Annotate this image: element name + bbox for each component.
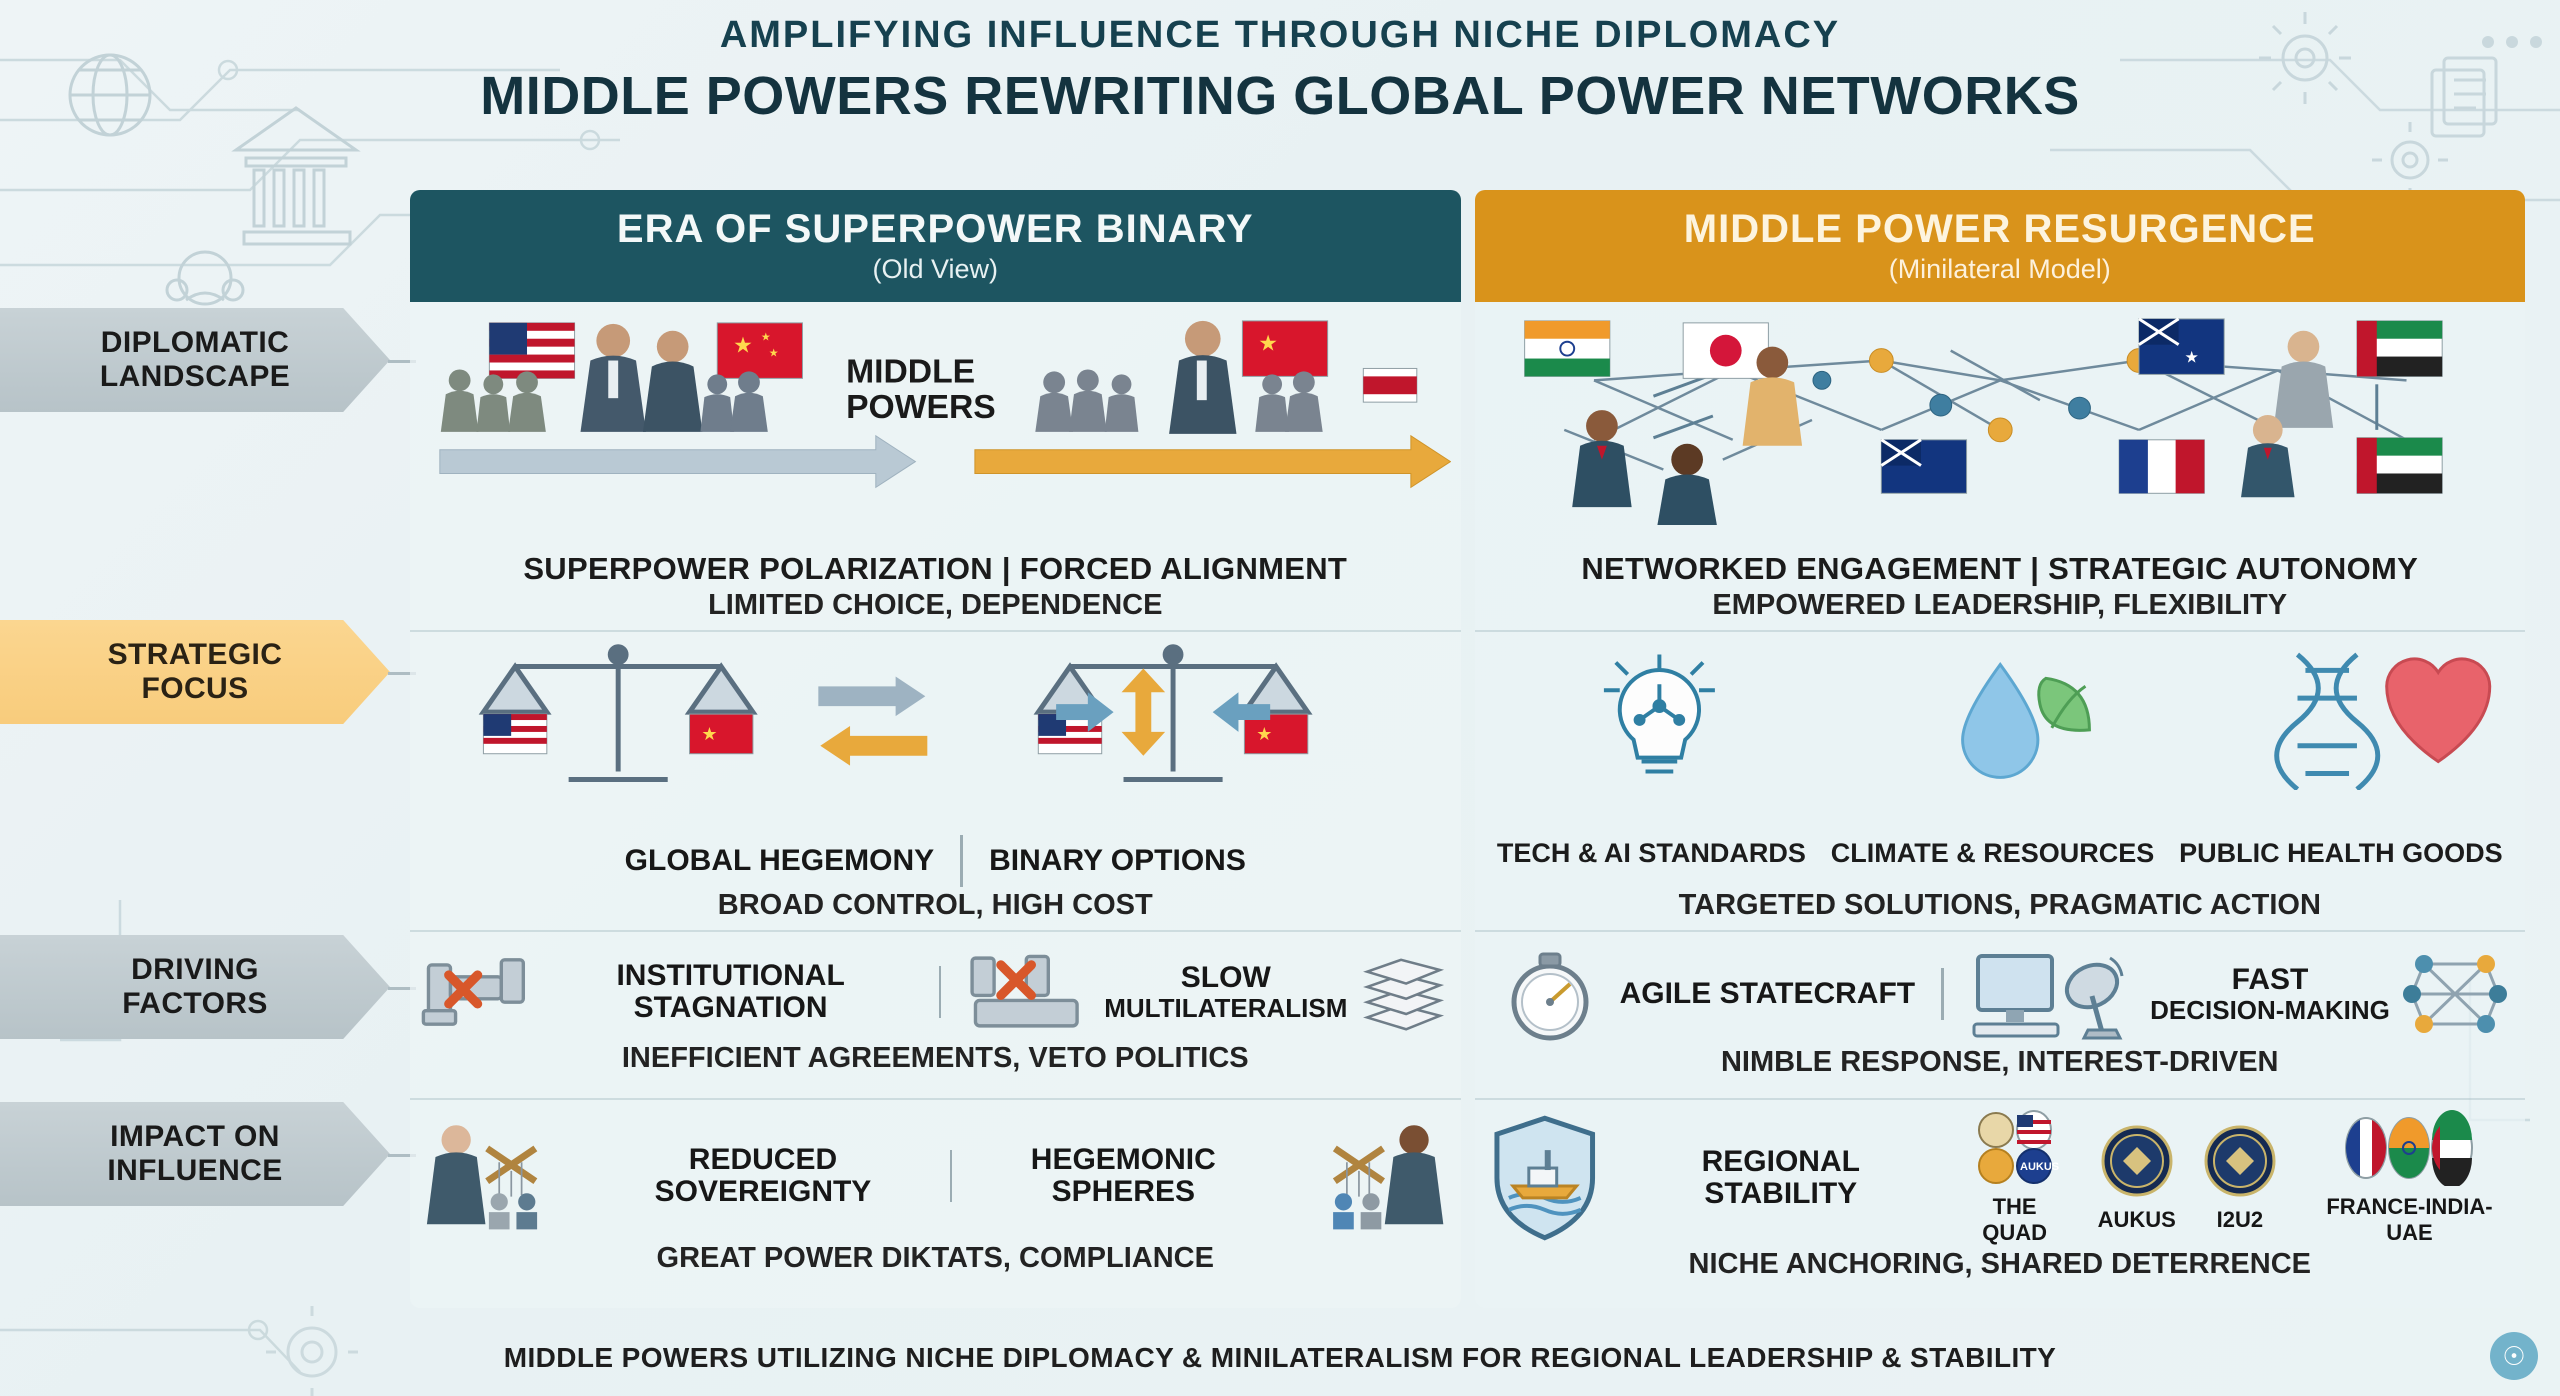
cell-right-impact-on-influence: REGIONAL STABILITY	[1475, 1100, 2526, 1308]
pact-emblems: AUKUS THE QUAD AUKUS	[1958, 1110, 2515, 1246]
row-label-impact-on-influence[interactable]: IMPACT ON INFLUENCE	[0, 1102, 390, 1206]
flag-usa-pan	[483, 714, 546, 754]
badge-icon: ☉	[2490, 1332, 2538, 1380]
icon-satellite-dish	[2060, 957, 2124, 1038]
caption-sub: INEFFICIENT AGREEMENTS, VETO POLITICS	[622, 1042, 1249, 1075]
pillar-label-climate: CLIMATE & RESOURCES	[1831, 839, 2155, 867]
svg-text:★: ★	[1258, 331, 1278, 356]
illustration-scales-hegemony: ★	[420, 640, 1451, 835]
icon-puppeteer-left	[420, 1112, 592, 1240]
icon-leaf	[2038, 678, 2089, 730]
pact-aukus[interactable]: AUKUS	[2098, 1123, 2176, 1233]
figure-superpower-leader-left	[581, 324, 646, 432]
label-multilateralism: MULTILATERALISM	[1104, 994, 1347, 1022]
row-label-diplomatic-landscape[interactable]: DIPLOMATIC LANDSCAPE	[0, 308, 390, 412]
svg-text:★: ★	[761, 332, 771, 344]
arrow-polarization-left	[440, 436, 916, 488]
pact-label: AUKUS	[2098, 1207, 2176, 1233]
svg-text:★: ★	[769, 348, 779, 360]
icon-monitor	[1974, 956, 2058, 1036]
row-label-line1: DIPLOMATIC	[101, 326, 289, 359]
label-reduced-sovereignty: REDUCED SOVEREIGNTY	[602, 1144, 924, 1209]
icon-broken-pipe-1	[420, 944, 539, 1040]
svg-text:★: ★	[733, 333, 753, 358]
panel-old-view: ★ ★ ★	[410, 302, 1461, 1308]
page-header: AMPLIFYING INFLUENCE THROUGH NICHE DIPLO…	[0, 14, 2560, 127]
row-driving-factors-right: AGILE STATECRAFT	[1485, 944, 2516, 1044]
icon-puppeteer-right	[1278, 1112, 1450, 1240]
pact-i2u2[interactable]: I2U2	[2202, 1123, 2278, 1233]
pact-label: I2U2	[2202, 1207, 2278, 1233]
svg-text:★: ★	[1256, 724, 1272, 744]
label-agile-statecraft: AGILE STATECRAFT	[1620, 978, 1916, 1010]
icon-computer-satellite	[1970, 944, 2140, 1044]
pact-label: THE QUAD	[1958, 1194, 2072, 1246]
row-label-driving-factors[interactable]: DRIVING FACTORS	[0, 935, 390, 1039]
gear-icon	[2372, 122, 2448, 198]
row-impact-left: REDUCED SOVEREIGNTY HEGEMONIC SPHERES	[420, 1112, 1451, 1240]
flag-france-emblem	[2346, 1118, 2386, 1178]
flag-uae-mid	[2356, 438, 2441, 493]
vertical-divider	[1941, 968, 1944, 1020]
column-title: MIDDLE POWER RESURGENCE	[1684, 207, 2316, 252]
icon-lightbulb-ai	[1603, 655, 1714, 772]
cell-right-strategic-focus: TECH & AI STANDARDS CLIMATE & RESOURCES …	[1475, 632, 2526, 932]
cell-right-driving-factors: AGILE STATECRAFT	[1475, 932, 2526, 1100]
figure-superpower-leader-right2	[1169, 321, 1236, 434]
arrows-binary-exchange	[818, 676, 927, 765]
caption-sub: EMPOWERED LEADERSHIP, FLEXIBILITY	[1712, 589, 2287, 622]
row-driving-factors-left: INSTITUTIONAL STAGNATION SLOW MULTILA	[420, 944, 1451, 1040]
column-header-old-view[interactable]: ERA OF SUPERPOWER BINARY (Old View)	[410, 190, 1461, 302]
icon-heart-health	[2386, 659, 2489, 762]
icon-network-graph	[2400, 944, 2510, 1044]
cell-left-driving-factors: INSTITUTIONAL STAGNATION SLOW MULTILA	[410, 932, 1461, 1100]
caption-sub: NICHE ANCHORING, SHARED DETERRENCE	[1689, 1248, 2311, 1281]
pillar-label-tech-ai: TECH & AI STANDARDS	[1497, 839, 1806, 867]
comparison-board: ERA OF SUPERPOWER BINARY (Old View) MIDD…	[410, 190, 2525, 1310]
caption-main: NETWORKED ENGAGEMENT | STRATEGIC AUTONOM…	[1581, 551, 2418, 587]
figures-small-states-mid	[700, 371, 767, 431]
network-nodes-blue	[1812, 371, 2089, 419]
label-middle-powers-line2: POWERS	[846, 389, 996, 426]
caption-sub: BROAD CONTROL, HIGH COST	[718, 889, 1153, 922]
label-fast: FAST	[2150, 964, 2390, 996]
vertical-divider	[950, 1150, 953, 1202]
cell-left-strategic-focus: ★	[410, 632, 1461, 932]
row-label-column: DIPLOMATIC LANDSCAPE STRATEGIC FOCUS DRI…	[0, 190, 415, 1310]
flag-north-korea	[1363, 368, 1417, 402]
row-label-line2: FOCUS	[142, 672, 249, 705]
figures-puppets	[489, 1193, 537, 1229]
row-label-line2: FACTORS	[122, 987, 268, 1020]
icon-broken-pipe-2	[967, 944, 1094, 1040]
cell-left-impact-on-influence: REDUCED SOVEREIGNTY HEGEMONIC SPHERES	[410, 1100, 1461, 1308]
column-subtitle: (Minilateral Model)	[1889, 254, 2111, 285]
row-label-line1: IMPACT ON	[110, 1120, 280, 1153]
figure-superpower-leader-right	[643, 331, 702, 432]
svg-text:★: ★	[2184, 350, 2198, 367]
label-slow-multilateralism: SLOW MULTILATERALISM	[1104, 962, 1347, 1022]
flag-china-right: ★	[1242, 321, 1327, 376]
vertical-divider	[960, 835, 963, 887]
flag-france	[2119, 440, 2204, 494]
flag-australia-top: ★	[2138, 319, 2223, 374]
label-institutional-stagnation: INSTITUTIONAL STAGNATION	[549, 960, 913, 1025]
figure-puppeteer	[1385, 1125, 1444, 1224]
pact-the-quad[interactable]: AUKUS THE QUAD	[1958, 1110, 2072, 1246]
icon-dna-helix	[2276, 655, 2377, 790]
flag-uae-top	[2356, 321, 2441, 376]
figures-small-states-left	[441, 369, 546, 431]
illustration-networked-engagement: ★	[1485, 310, 2516, 551]
page-title: MIDDLE POWERS REWRITING GLOBAL POWER NET…	[0, 65, 2560, 127]
flag-india-emblem	[2389, 1118, 2429, 1178]
icon-paper-stack	[1357, 944, 1450, 1040]
flag-australia-mid	[1881, 440, 1966, 494]
label-global-hegemony: GLOBAL HEGEMONY	[625, 845, 934, 877]
row-label-line1: DRIVING	[131, 953, 259, 986]
icon-stopwatch	[1490, 944, 1610, 1044]
row-label-line2: LANDSCAPE	[100, 360, 290, 393]
cell-right-diplomatic-landscape: ★	[1475, 302, 2526, 632]
column-subtitle: (Old View)	[872, 254, 998, 285]
panel-minilateral-model: ★	[1475, 302, 2526, 1308]
flag-usa	[489, 323, 574, 378]
svg-text:★: ★	[701, 724, 717, 744]
pact-label: FRANCE-INDIA-UAE	[2304, 1194, 2515, 1246]
label-slow: SLOW	[1104, 962, 1347, 994]
vertical-divider	[939, 966, 942, 1018]
header-kicker: AMPLIFYING INFLUENCE THROUGH NICHE DIPLO…	[0, 14, 2560, 57]
label-regional-stability: REGIONAL STABILITY	[1622, 1146, 1940, 1211]
svg-text:AUKUS: AUKUS	[2020, 1161, 2059, 1173]
caption-sub: LIMITED CHOICE, DEPENDENCE	[708, 589, 1162, 622]
flag-china-pan2: ★	[1244, 714, 1307, 754]
row-label-strategic-focus[interactable]: STRATEGIC FOCUS	[0, 620, 390, 724]
icon-maritime-shield	[1485, 1112, 1605, 1244]
footer-text: MIDDLE POWERS UTILIZING NICHE DIPLOMACY …	[0, 1342, 2560, 1374]
caption-sub: NIMBLE RESPONSE, INTEREST-DRIVEN	[1721, 1046, 2279, 1079]
icon-water-droplet	[1962, 664, 2037, 777]
figure-diplomat-2	[1657, 444, 1716, 525]
caption-sub: TARGETED SOLUTIONS, PRAGMATIC ACTION	[1679, 889, 2321, 922]
figures-puppets	[1333, 1193, 1381, 1229]
flag-india	[1524, 321, 1609, 376]
figure-diplomat-4	[2273, 331, 2332, 428]
caption-sub: GREAT POWER DIKTATS, COMPLIANCE	[657, 1242, 1214, 1275]
flag-usa-emblem	[2017, 1111, 2051, 1149]
row-impact-right: REGIONAL STABILITY	[1485, 1110, 2516, 1246]
figure-puppeteer	[427, 1125, 486, 1224]
arrow-polarization-right	[975, 436, 1451, 488]
caption-main: SUPERPOWER POLARIZATION | FORCED ALIGNME…	[523, 551, 1347, 587]
illustration-niche-pillars	[1485, 640, 2516, 839]
flag-china-pan: ★	[690, 714, 753, 754]
flag-japan	[1683, 323, 1768, 378]
pact-france-india-uae[interactable]: FRANCE-INDIA-UAE	[2304, 1110, 2515, 1246]
network-nodes-amber	[1760, 349, 2150, 442]
row-label-line1: STRATEGIC	[108, 638, 283, 671]
row-label-line2: INFLUENCE	[107, 1154, 282, 1187]
flag-china: ★ ★ ★	[717, 323, 802, 378]
label-middle-powers-line1: MIDDLE	[846, 353, 975, 390]
column-header-minilateral-model[interactable]: MIDDLE POWER RESURGENCE (Minilateral Mod…	[1475, 190, 2526, 302]
pillar-label-public-health: PUBLIC HEALTH GOODS	[2179, 839, 2503, 867]
labels-hegemony-binary: GLOBAL HEGEMONY BINARY OPTIONS	[420, 835, 1451, 887]
illustration-superpower-polarization: ★ ★ ★	[420, 310, 1451, 551]
flag-uae-emblem	[2432, 1110, 2472, 1186]
label-binary-options: BINARY OPTIONS	[989, 845, 1246, 877]
column-headers: ERA OF SUPERPOWER BINARY (Old View) MIDD…	[410, 190, 2525, 302]
label-fast-decision-making: FAST DECISION-MAKING	[2150, 964, 2390, 1024]
pillar-labels: TECH & AI STANDARDS CLIMATE & RESOURCES …	[1485, 839, 2516, 867]
column-title: ERA OF SUPERPOWER BINARY	[617, 207, 1254, 252]
label-decision-making: DECISION-MAKING	[2150, 996, 2390, 1024]
icon-balance-scale-left	[483, 647, 753, 780]
cell-left-diplomatic-landscape: ★ ★ ★	[410, 302, 1461, 632]
label-hegemonic-spheres: HEGEMONIC SPHERES	[978, 1144, 1268, 1209]
